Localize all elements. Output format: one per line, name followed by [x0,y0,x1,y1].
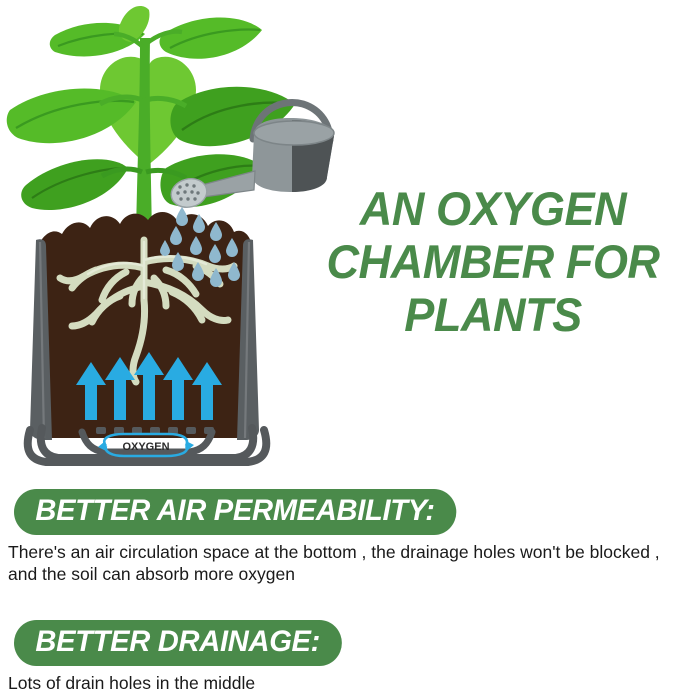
feature-badge-air-permeability: BETTER AIR PERMEABILITY: [14,489,456,535]
plant-illustration-svg: OXYGEN [0,0,340,470]
product-infographic: OXYGEN AN OXYGEN CHAMBER FOR PLANTS [0,0,679,693]
feature-body-air-permeability: There's an air circulation space at the … [8,541,679,585]
headline-line-3: PLANTS [319,288,667,341]
feature-badge-drainage: BETTER DRAINAGE: [14,620,341,666]
headline-line-2: CHAMBER FOR [319,235,667,288]
feature-body-drainage: Lots of drain holes in the middle [8,672,679,694]
feature-better-drainage: BETTER DRAINAGE: Lots of drain holes in … [0,620,679,694]
page-title: AN OXYGEN CHAMBER FOR PLANTS [319,182,667,341]
oxygen-label-text: OXYGEN [122,441,169,453]
plant-illustration: OXYGEN [0,0,340,470]
feature-better-air-permeability: BETTER AIR PERMEABILITY: There's an air … [0,489,679,585]
headline-line-1: AN OXYGEN [319,182,667,235]
